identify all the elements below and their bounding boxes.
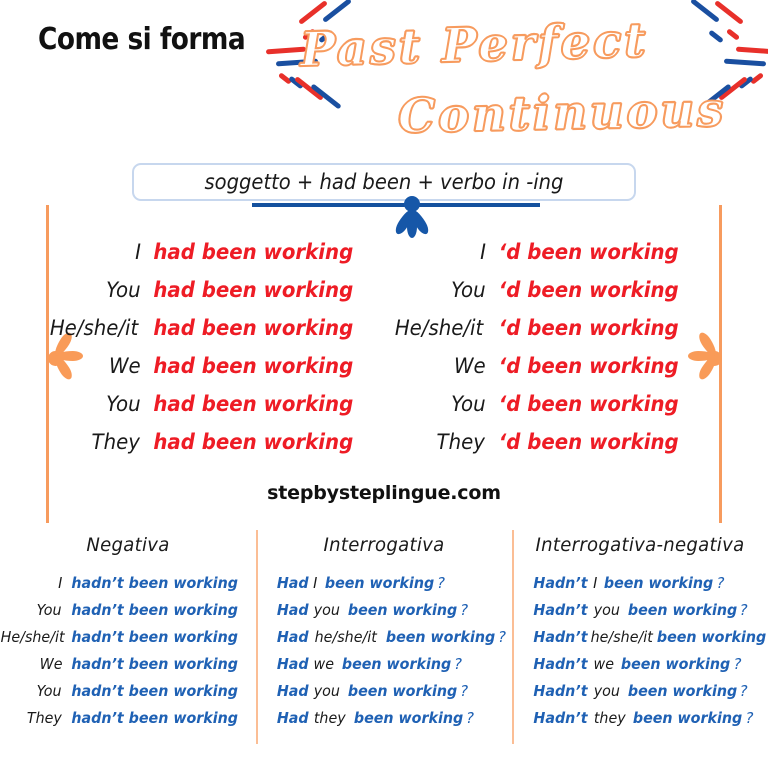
pronoun: he/she/it — [591, 628, 653, 646]
verb-phrase: been working — [627, 601, 736, 619]
pronoun: he/she/it — [315, 628, 377, 646]
pronoun: you — [314, 601, 340, 619]
question-mark: ? — [454, 655, 462, 673]
question-mark: ? — [460, 601, 468, 619]
infographic-page: Come si forma Past Perfect Continuous so… — [0, 0, 768, 768]
pronoun: they — [594, 709, 626, 727]
affirmative-row: He/she/ithad been working — [60, 316, 384, 354]
interrogative-negative-row: Hadn’tyoubeen working? — [512, 601, 768, 628]
interrogative-negative-row: Hadn’the/she/itbeen working? — [512, 628, 768, 655]
pronoun: He/she/it — [50, 316, 138, 340]
pronoun: We — [39, 655, 62, 673]
sparkle-dash-icon — [724, 59, 766, 67]
question-mark: ? — [498, 628, 506, 646]
pronoun: You — [106, 278, 140, 302]
negative-row: He/she/ithadn’t been working — [0, 628, 256, 655]
negative-column: Negativa Ihadn’t been workingYouhadn’t b… — [0, 524, 256, 768]
verb-phrase: ‘d been working — [498, 392, 678, 416]
interrogative-row: Hadwebeen working? — [256, 655, 512, 682]
page-title-line-2: Continuous — [397, 83, 726, 145]
pronoun: I — [593, 574, 597, 592]
pronoun: They — [437, 430, 485, 454]
interrogative-negative-column: Interrogativa-negativa Hadn’tIbeen worki… — [512, 524, 768, 768]
page-title-line-1: Past Perfect — [299, 13, 649, 78]
question-mark: ? — [466, 709, 474, 727]
verb-phrase: hadn’t been working — [71, 709, 238, 727]
verb-phrase: been working — [604, 574, 713, 592]
auxiliary: Hadn’t — [533, 655, 587, 673]
verb-phrase: had been working — [154, 392, 354, 416]
affirmative-row: You‘d been working — [384, 278, 708, 316]
verb-phrase: had been working — [154, 430, 354, 454]
interrogative-row: Hadtheybeen working? — [256, 709, 512, 736]
pronoun: You — [37, 601, 62, 619]
pronoun: He/she/it — [1, 628, 65, 646]
interrogative-negative-row: Hadn’tyoubeen working? — [512, 682, 768, 709]
interrogative-row: HadIbeen working? — [256, 574, 512, 601]
affirmative-row: You‘d been working — [384, 392, 708, 430]
pronoun: They — [27, 709, 62, 727]
auxiliary: Hadn’t — [533, 628, 587, 646]
sparkle-dash-icon — [726, 28, 740, 41]
formula-section: soggetto + had been + verbo in -ing — [132, 163, 636, 201]
sparkle-dash-icon — [714, 0, 744, 25]
verb-phrase: been working — [657, 628, 766, 646]
pronoun: you — [314, 682, 340, 700]
auxiliary: Hadn’t — [533, 574, 587, 592]
forms-section: Negativa Ihadn’t been workingYouhadn’t b… — [0, 524, 768, 768]
negative-row: Wehadn’t been working — [0, 655, 256, 682]
affirmative-column-full: Ihad been workingYouhad been workingHe/s… — [60, 240, 384, 468]
verb-phrase: hadn’t been working — [71, 682, 238, 700]
question-mark: ? — [437, 574, 445, 592]
interrogative-rows: HadIbeen working?Hadyoubeen working?Hadh… — [256, 574, 512, 736]
column-divider — [256, 530, 258, 744]
verb-phrase: been working — [325, 574, 434, 592]
negative-row: Youhadn’t been working — [0, 682, 256, 709]
negative-row: Theyhadn’t been working — [0, 709, 256, 736]
pronoun: I — [135, 240, 141, 264]
verb-phrase: been working — [348, 682, 457, 700]
pronoun: They — [91, 430, 139, 454]
question-mark: ? — [746, 709, 754, 727]
verb-phrase: been working — [627, 682, 736, 700]
auxiliary: Hadn’t — [533, 601, 587, 619]
interrogative-row: Hadyoubeen working? — [256, 601, 512, 628]
negative-row: Ihadn’t been working — [0, 574, 256, 601]
verb-phrase: ‘d been working — [498, 240, 678, 264]
interrogative-negative-row: Hadn’tIbeen working? — [512, 574, 768, 601]
affirmative-column-contracted: I‘d been workingYou‘d been workingHe/she… — [384, 240, 708, 468]
verb-phrase: ‘d been working — [498, 316, 678, 340]
verb-phrase: been working — [386, 628, 495, 646]
pronoun: I — [481, 240, 487, 264]
interrogative-negative-rows: Hadn’tIbeen working?Hadn’tyoubeen workin… — [512, 574, 768, 736]
pronoun: you — [594, 682, 620, 700]
pronoun: I — [314, 574, 318, 592]
verb-phrase: ‘d been working — [498, 354, 678, 378]
verb-phrase: ‘d been working — [498, 278, 678, 302]
interrogative-negative-heading: Interrogativa-negativa — [518, 524, 761, 556]
affirmative-row: Ihad been working — [60, 240, 384, 278]
question-mark: ? — [716, 574, 724, 592]
website-credit: stepbysteplingue.com — [0, 482, 768, 504]
verb-phrase: had been working — [154, 354, 354, 378]
auxiliary: Hadn’t — [533, 682, 587, 700]
affirmative-row: Youhad been working — [60, 392, 384, 430]
pronoun: I — [58, 574, 62, 592]
auxiliary: Hadn’t — [533, 709, 587, 727]
negative-heading: Negativa — [6, 524, 249, 556]
affirmative-row: We‘d been working — [384, 354, 708, 392]
affirmative-section: Ihad been workingYouhad been workingHe/s… — [60, 240, 708, 468]
negative-rows: Ihadn’t been workingYouhadn’t been worki… — [0, 574, 256, 736]
interrogative-column: Interrogativa HadIbeen working?Hadyoubee… — [256, 524, 512, 768]
affirmative-row: Wehad been working — [60, 354, 384, 392]
formula-burst-icon — [382, 196, 442, 238]
affirmative-row: They‘d been working — [384, 430, 708, 468]
verb-phrase: had been working — [154, 278, 354, 302]
auxiliary: Had — [277, 655, 309, 673]
question-mark: ? — [460, 682, 468, 700]
pronoun: we — [594, 655, 614, 673]
interrogative-negative-row: Hadn’ttheybeen working? — [512, 709, 768, 736]
pronoun: You — [106, 392, 140, 416]
pronoun: You — [37, 682, 62, 700]
kicker-text: Come si forma — [38, 22, 245, 57]
question-mark: ? — [740, 601, 748, 619]
auxiliary: Had — [277, 574, 309, 592]
pronoun: You — [451, 392, 485, 416]
verb-phrase: had been working — [154, 240, 354, 264]
affirmative-row: Youhad been working — [60, 278, 384, 316]
column-divider — [512, 530, 514, 744]
pronoun: He/she/it — [395, 316, 483, 340]
verb-phrase: been working — [633, 709, 742, 727]
sparkle-dash-icon — [736, 47, 768, 55]
question-mark: ? — [734, 655, 742, 673]
auxiliary: Had — [277, 628, 309, 646]
verb-phrase: been working — [348, 601, 457, 619]
verb-phrase: hadn’t been working — [71, 574, 238, 592]
pronoun: you — [594, 601, 620, 619]
auxiliary: Had — [277, 682, 309, 700]
pronoun: We — [454, 354, 486, 378]
pronoun: they — [314, 709, 346, 727]
verb-phrase: had been working — [154, 316, 354, 340]
header: Come si forma Past Perfect Continuous — [0, 0, 768, 155]
question-mark: ? — [740, 682, 748, 700]
affirmative-row: I‘d been working — [384, 240, 708, 278]
verb-phrase: been working — [621, 655, 730, 673]
interrogative-row: Hadhe/she/itbeen working? — [256, 628, 512, 655]
interrogative-negative-row: Hadn’twebeen working? — [512, 655, 768, 682]
affirmative-row: Theyhad been working — [60, 430, 384, 468]
formula-text: soggetto + had been + verbo in -ing — [205, 170, 564, 194]
affirmative-row: He/she/it‘d been working — [384, 316, 708, 354]
negative-row: Youhadn’t been working — [0, 601, 256, 628]
verb-phrase: ‘d been working — [498, 430, 678, 454]
verb-phrase: hadn’t been working — [71, 601, 238, 619]
verb-phrase: hadn’t been working — [71, 655, 238, 673]
verb-phrase: hadn’t been working — [71, 628, 238, 646]
verb-phrase: been working — [342, 655, 451, 673]
pronoun: we — [314, 655, 334, 673]
pronoun: You — [451, 278, 485, 302]
interrogative-heading: Interrogativa — [262, 524, 505, 556]
auxiliary: Had — [277, 601, 309, 619]
interrogative-row: Hadyoubeen working? — [256, 682, 512, 709]
pronoun: We — [109, 354, 141, 378]
verb-phrase: been working — [354, 709, 463, 727]
auxiliary: Had — [277, 709, 309, 727]
sparkle-dash-icon — [708, 30, 724, 44]
